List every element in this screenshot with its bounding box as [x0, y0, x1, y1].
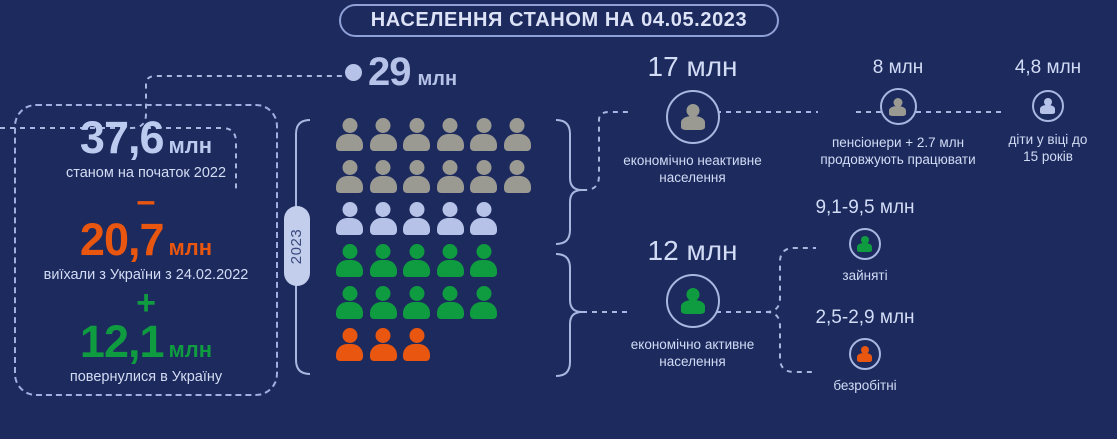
stat-left-caption: виїхали з України з 24.02.2022: [44, 267, 249, 283]
person-icon: [403, 118, 430, 151]
person-head: [376, 118, 391, 133]
person-icon: [403, 328, 430, 361]
branch-unemployed-value: 2,5-2,9 млн: [815, 308, 914, 327]
person-icon: [470, 118, 497, 151]
person-head: [443, 202, 458, 217]
total-population-unit: млн: [418, 68, 458, 91]
pictogram-row: [336, 118, 544, 155]
person-icon: [336, 118, 363, 151]
person-body: [470, 134, 497, 151]
person-icon: [470, 244, 497, 277]
person-body: [336, 218, 363, 235]
person-head: [342, 244, 357, 259]
person-head: [510, 118, 525, 133]
person-head: [342, 286, 357, 301]
branch-unemployed: 2,5-2,9 млн безробітні: [800, 308, 930, 395]
stat-returned-number: 12,1: [80, 316, 164, 367]
person-icon: [470, 202, 497, 235]
person-head: [510, 160, 525, 175]
person-body: [437, 134, 464, 151]
page-title: НАСЕЛЕННЯ СТАНОМ НА 04.05.2023: [339, 4, 779, 37]
person-head: [376, 244, 391, 259]
person-head: [476, 118, 491, 133]
person-body: [437, 302, 464, 319]
brace-right-upper: [556, 120, 582, 244]
person-icon: [437, 286, 464, 319]
person-body: [470, 260, 497, 277]
stat-returned-unit: млн: [169, 337, 213, 362]
brace-right-lower: [556, 254, 582, 376]
year-badge: 2023: [284, 206, 310, 286]
person-head: [376, 286, 391, 301]
person-icon: [336, 244, 363, 277]
branch-pensioners-value: 8 млн: [873, 58, 924, 77]
stat-start-2022-caption: станом на початок 2022: [66, 165, 226, 181]
person-body: [336, 134, 363, 151]
branch-children: 4,8 млн діти у віці до 15 років: [986, 58, 1110, 166]
person-head: [476, 160, 491, 175]
person-body: [370, 134, 397, 151]
person-head: [342, 118, 357, 133]
operator-plus: +: [136, 290, 156, 317]
person-head: [342, 328, 357, 343]
person-body: [437, 176, 464, 193]
person-icon: [336, 328, 363, 361]
branch-employed-label: зайняті: [800, 268, 930, 285]
person-icon: [370, 160, 397, 193]
person-head: [376, 202, 391, 217]
branch-unemployed-label: безробітні: [800, 378, 930, 395]
person-head: [476, 202, 491, 217]
person-icon: [470, 286, 497, 319]
person-head: [476, 244, 491, 259]
branch-employed-person-icon: [849, 228, 881, 260]
person-body: [403, 344, 430, 361]
branch-inactive-label: економічно неактивне населення: [605, 153, 780, 187]
person-head: [409, 118, 424, 133]
person-body: [470, 302, 497, 319]
person-body: [504, 176, 531, 193]
person-body: [403, 260, 430, 277]
person-icon: [403, 202, 430, 235]
person-head: [443, 286, 458, 301]
person-icon: [403, 160, 430, 193]
branch-employed-value: 9,1-9,5 млн: [815, 198, 914, 217]
stat-start-2022-number: 37,6: [80, 112, 164, 163]
stat-start-2022-value: 37,6млн: [80, 115, 212, 160]
person-icon: [370, 328, 397, 361]
total-population-value: 29: [368, 52, 411, 92]
person-head: [376, 328, 391, 343]
person-body: [336, 176, 363, 193]
person-icon: [370, 118, 397, 151]
total-population-headline: 29 млн: [345, 52, 457, 92]
person-body: [403, 218, 430, 235]
branch-unemployed-person-icon: [849, 338, 881, 370]
population-balance-card: 37,6млн станом на початок 2022 – 20,7млн…: [14, 104, 278, 396]
page-title-text: НАСЕЛЕННЯ СТАНОМ НА 04.05.2023: [371, 9, 747, 32]
person-head: [409, 202, 424, 217]
person-head: [409, 328, 424, 343]
stat-returned-caption: повернулися в Україну: [70, 369, 222, 385]
person-icon: [336, 286, 363, 319]
pictogram-row: [336, 160, 544, 197]
operator-minus: –: [137, 188, 156, 215]
person-icon: [403, 244, 430, 277]
person-head: [409, 286, 424, 301]
branch-employed: 9,1-9,5 млн зайняті: [800, 198, 930, 285]
person-body: [437, 260, 464, 277]
person-icon: [504, 160, 531, 193]
branch-active-population: 12 млн економічно активне населення: [605, 237, 780, 371]
branch-active-label: економічно активне населення: [605, 337, 780, 371]
person-icon: [336, 202, 363, 235]
bullet-dot-icon: [345, 64, 362, 81]
stat-left-value: 20,7млн: [80, 217, 212, 262]
person-head: [376, 160, 391, 175]
pictogram-row: [336, 244, 544, 281]
branch-pensioners-label: пенсіонери + 2.7 млн продовжують працюва…: [800, 135, 996, 169]
person-body: [370, 344, 397, 361]
person-icon: [403, 286, 430, 319]
year-badge-label: 2023: [289, 228, 306, 263]
person-icon: [470, 160, 497, 193]
person-body: [470, 176, 497, 193]
person-icon: [437, 202, 464, 235]
stat-start-2022-unit: млн: [169, 133, 213, 158]
person-icon: [437, 160, 464, 193]
person-head: [443, 160, 458, 175]
population-pictogram-grid: [336, 118, 544, 373]
stat-returned-value: 12,1млн: [80, 319, 212, 364]
person-head: [443, 118, 458, 133]
person-body: [437, 218, 464, 235]
pictogram-row: [336, 202, 544, 239]
person-icon: [504, 118, 531, 151]
pictogram-row: [336, 286, 544, 323]
person-body: [470, 218, 497, 235]
person-icon: [437, 244, 464, 277]
person-head: [342, 160, 357, 175]
branch-pensioners-person-icon: [880, 88, 917, 125]
person-head: [476, 286, 491, 301]
person-icon: [370, 202, 397, 235]
branch-inactive-value: 17 млн: [648, 53, 738, 81]
person-icon: [370, 286, 397, 319]
person-body: [370, 218, 397, 235]
person-head: [409, 160, 424, 175]
person-body: [370, 260, 397, 277]
person-body: [403, 134, 430, 151]
person-body: [504, 134, 531, 151]
branch-active-value: 12 млн: [648, 237, 738, 265]
branch-active-person-icon: [666, 274, 720, 328]
branch-inactive-person-icon: [666, 90, 720, 144]
person-body: [336, 344, 363, 361]
person-body: [370, 302, 397, 319]
person-body: [336, 260, 363, 277]
person-icon: [437, 118, 464, 151]
infographic-canvas: НАСЕЛЕННЯ СТАНОМ НА 04.05.2023 37,6млн с…: [0, 0, 1117, 439]
stat-left-unit: млн: [169, 235, 213, 260]
person-icon: [370, 244, 397, 277]
person-head: [443, 244, 458, 259]
branch-inactive-population: 17 млн економічно неактивне населення: [605, 53, 780, 187]
branch-children-label: діти у віці до 15 років: [986, 132, 1110, 166]
person-body: [403, 302, 430, 319]
pictogram-row: [336, 328, 544, 365]
person-body: [370, 176, 397, 193]
branch-children-person-icon: [1032, 90, 1064, 122]
stat-left-number: 20,7: [80, 214, 164, 265]
person-body: [403, 176, 430, 193]
person-icon: [336, 160, 363, 193]
branch-children-value: 4,8 млн: [1015, 58, 1081, 77]
person-head: [342, 202, 357, 217]
person-body: [336, 302, 363, 319]
person-head: [409, 244, 424, 259]
branch-pensioners: 8 млн пенсіонери + 2.7 млн продовжують п…: [800, 58, 996, 169]
